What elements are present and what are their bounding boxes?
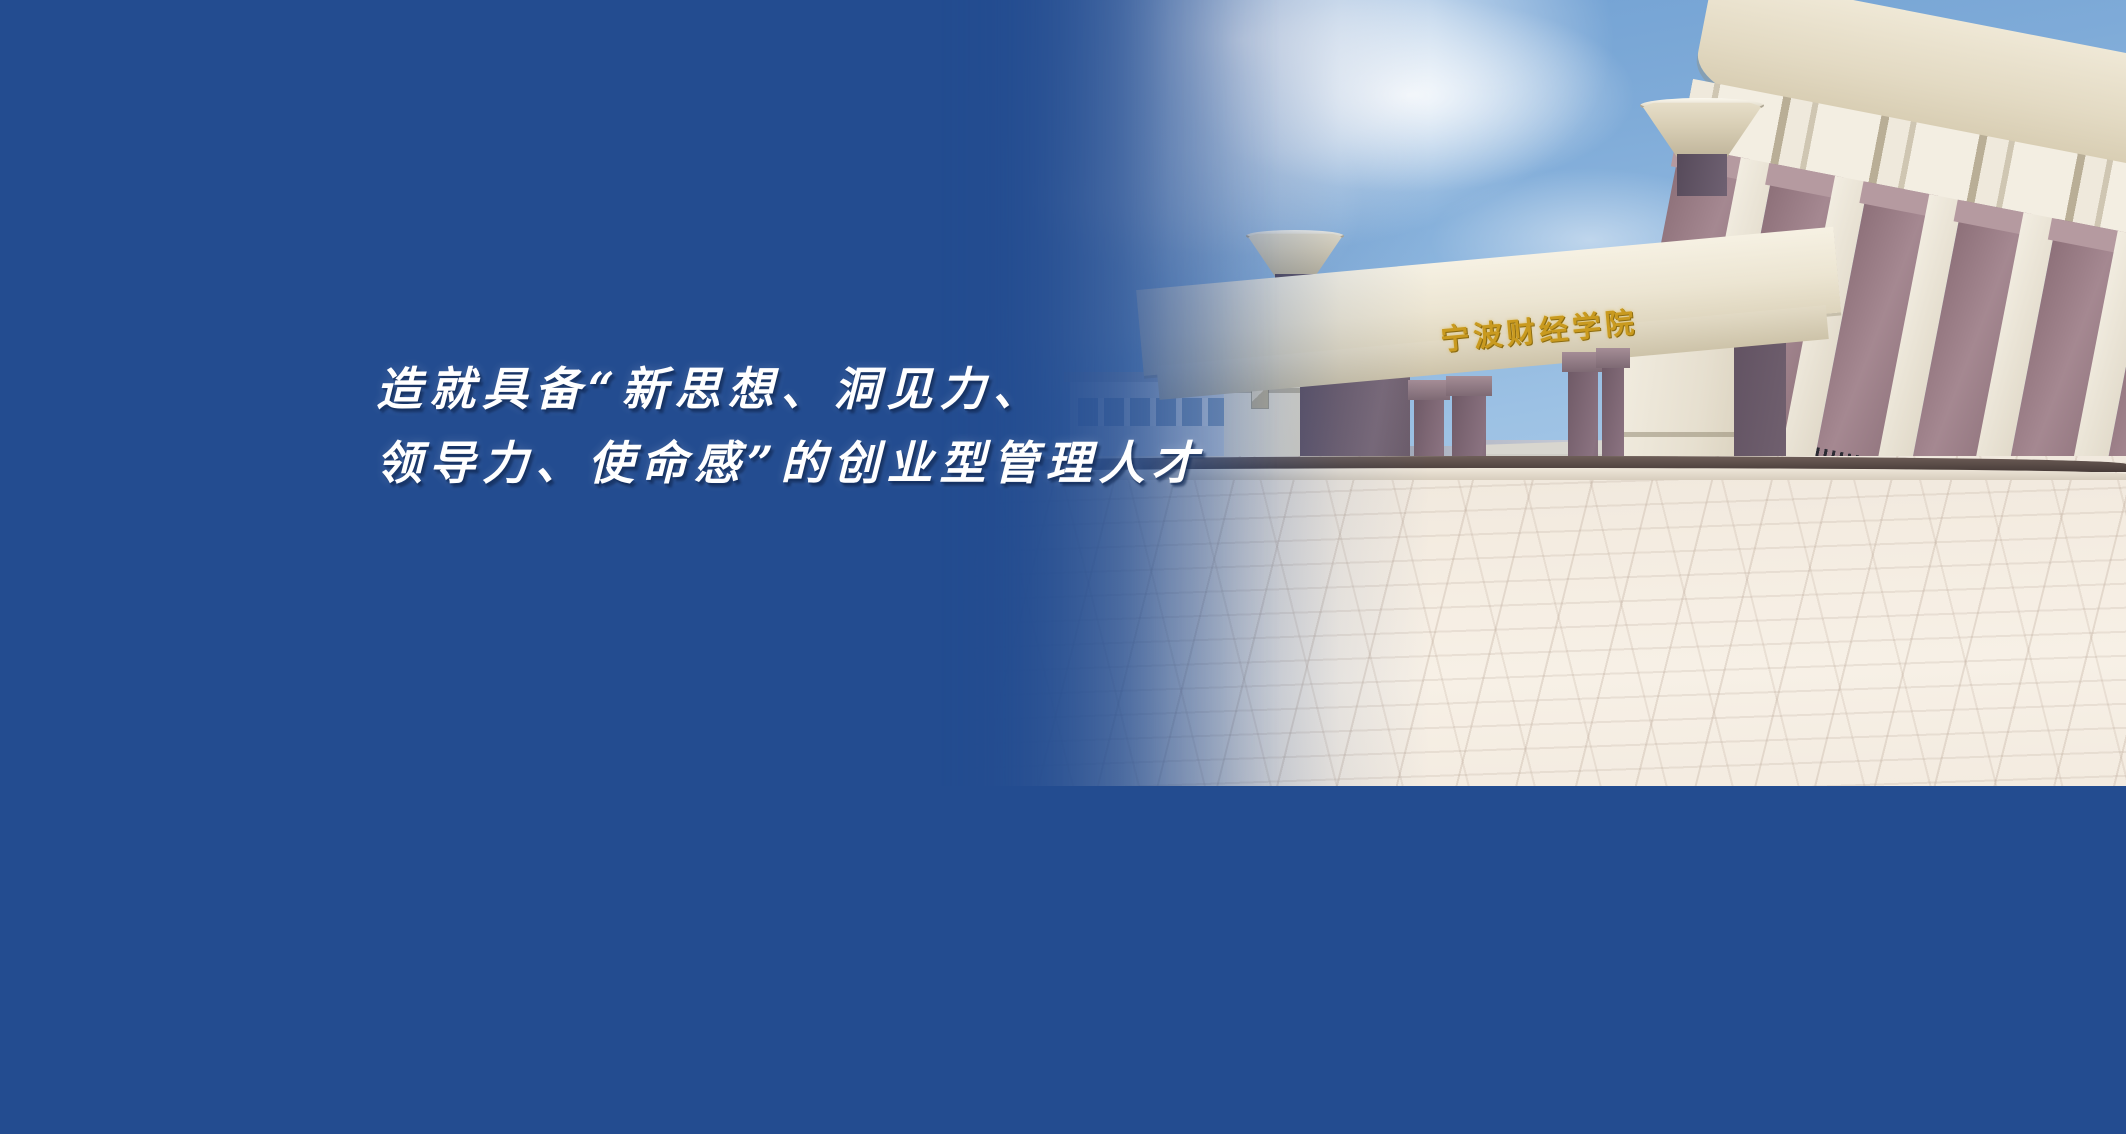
column-capital: [1446, 376, 1492, 396]
headline-block: 造就具备“新思想、洞见力、 领导力、使命感”的创业型管理人才: [376, 352, 1376, 500]
column-capital: [1596, 348, 1630, 368]
gate-lamp-bowl-right: [1640, 98, 1764, 194]
column-capital: [1408, 380, 1450, 400]
hero-banner: 宁波财经学院: [0, 0, 2126, 1134]
headline-line-1: 造就具备“新思想、洞见力、: [376, 352, 1376, 426]
headline-line-2: 领导力、使命感”的创业型管理人才: [376, 426, 1376, 500]
plaza-pavement: [940, 456, 2126, 786]
lamp-stem: [1677, 154, 1727, 196]
lamp-dish: [1640, 98, 1764, 158]
lamp-dish: [1246, 230, 1344, 277]
tower-band: [1622, 432, 1734, 437]
